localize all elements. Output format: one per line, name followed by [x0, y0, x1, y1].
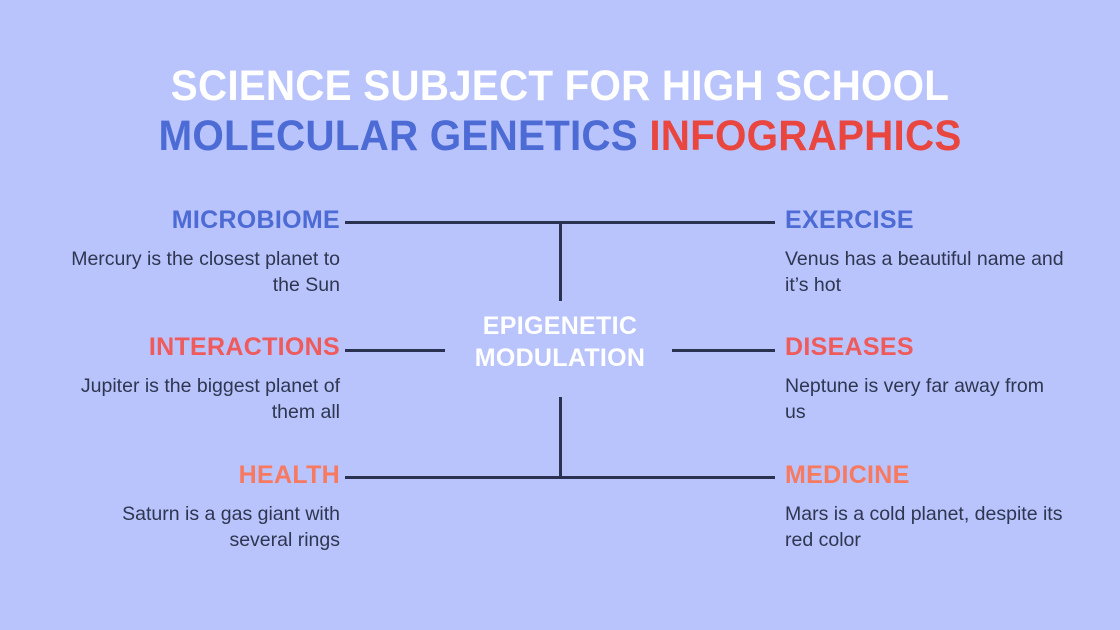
item-health-title: HEALTH — [40, 463, 340, 488]
item-interactions-body: Jupiter is the biggest planet of them al… — [40, 374, 340, 425]
item-exercise-body: Venus has a beautiful name and it’s hot — [785, 247, 1085, 298]
title-molecular-genetics: MOLECULAR GENETICS — [158, 112, 637, 160]
item-medicine: MEDICINE Mars is a cold planet, despite … — [785, 463, 1085, 553]
item-microbiome: MICROBIOME Mercury is the closest planet… — [40, 208, 340, 298]
item-exercise-title: EXERCISE — [785, 208, 1085, 233]
center-label-line-2: MODULATION — [400, 342, 720, 374]
item-medicine-title: MEDICINE — [785, 463, 1085, 488]
item-health: HEALTH Saturn is a gas giant with severa… — [40, 463, 340, 553]
title-infographics: INFOGRAPHICS — [649, 112, 961, 160]
item-microbiome-title: MICROBIOME — [40, 208, 340, 233]
item-health-body: Saturn is a gas giant with several rings — [40, 502, 340, 553]
connector-stem-bottom — [559, 397, 562, 479]
center-label: EPIGENETIC MODULATION — [400, 310, 720, 374]
slide-title: SCIENCE SUBJECT FOR HIGH SCHOOL MOLECULA… — [0, 64, 1120, 158]
infographic-slide: SCIENCE SUBJECT FOR HIGH SCHOOL MOLECULA… — [0, 0, 1120, 630]
item-interactions: INTERACTIONS Jupiter is the biggest plan… — [40, 335, 340, 425]
item-diseases-body: Neptune is very far away from us — [785, 374, 1085, 425]
connector-stem-top — [559, 221, 562, 301]
item-diseases: DISEASES Neptune is very far away from u… — [785, 335, 1085, 425]
item-interactions-title: INTERACTIONS — [40, 335, 340, 360]
item-exercise: EXERCISE Venus has a beautiful name and … — [785, 208, 1085, 298]
center-label-line-1: EPIGENETIC — [400, 310, 720, 342]
title-line-secondary: MOLECULAR GENETICS INFOGRAPHICS — [34, 114, 1087, 159]
item-microbiome-body: Mercury is the closest planet to the Sun — [40, 247, 340, 298]
item-diseases-title: DISEASES — [785, 335, 1085, 360]
item-medicine-body: Mars is a cold planet, despite its red c… — [785, 502, 1085, 553]
title-line-primary: SCIENCE SUBJECT FOR HIGH SCHOOL — [34, 64, 1087, 109]
